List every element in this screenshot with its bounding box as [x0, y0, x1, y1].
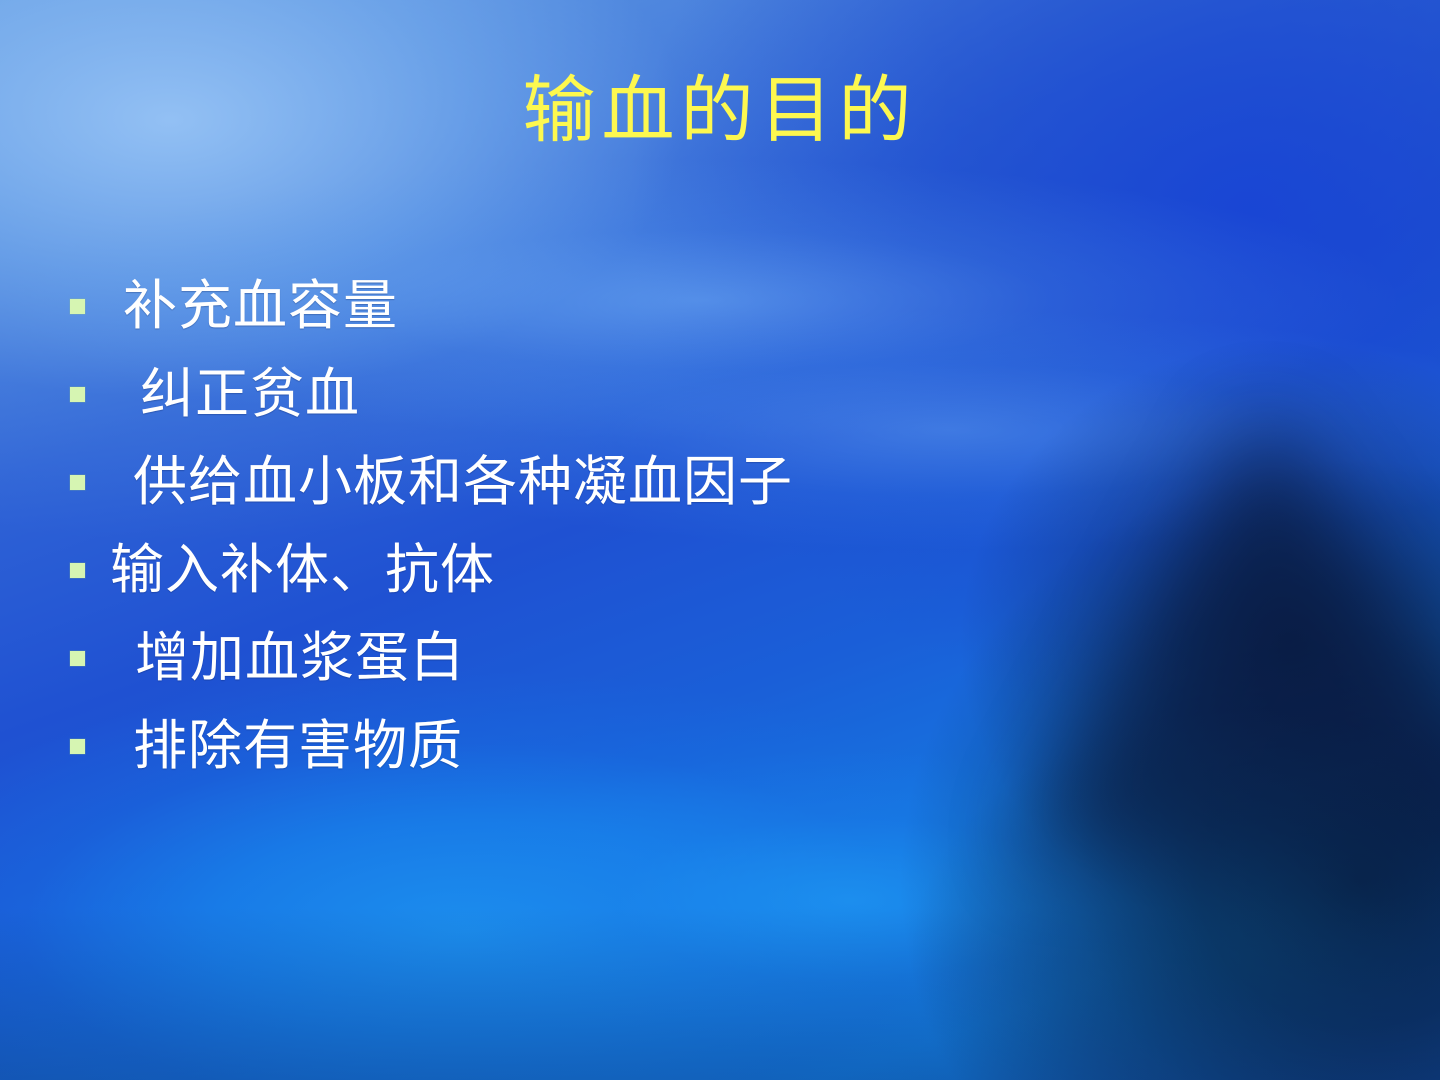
list-item-label: 补充血容量: [123, 279, 398, 333]
square-bullet-icon: [70, 387, 85, 402]
square-bullet-icon: [70, 739, 85, 754]
square-bullet-icon: [70, 475, 85, 490]
square-bullet-icon: [70, 299, 85, 314]
presentation-slide: 输血的目的 补充血容量 纠正贫血 供给血小板和各种凝血因子 输入补体、抗体 增加…: [0, 0, 1440, 1080]
list-item-label: 增加血浆蛋白: [135, 631, 465, 685]
list-item: 输入补体、抗体: [0, 526, 1100, 614]
bullet-list: 补充血容量 纠正贫血 供给血小板和各种凝血因子 输入补体、抗体 增加血浆蛋白 排: [0, 262, 1100, 790]
list-item-label: 纠正贫血: [140, 367, 360, 421]
list-item-label: 输入补体、抗体: [110, 543, 495, 597]
list-item: 补充血容量: [0, 262, 1100, 350]
slide-content: 输血的目的 补充血容量 纠正贫血 供给血小板和各种凝血因子 输入补体、抗体 增加…: [0, 0, 1440, 1080]
list-item: 供给血小板和各种凝血因子: [0, 438, 1100, 526]
square-bullet-icon: [70, 651, 85, 666]
list-item: 排除有害物质: [0, 702, 1100, 790]
slide-title: 输血的目的: [0, 74, 1440, 147]
square-bullet-icon: [70, 563, 85, 578]
list-item-label: 供给血小板和各种凝血因子: [133, 455, 793, 509]
list-item-label: 排除有害物质: [133, 719, 463, 773]
list-item: 纠正贫血: [0, 350, 1100, 438]
list-item: 增加血浆蛋白: [0, 614, 1100, 702]
